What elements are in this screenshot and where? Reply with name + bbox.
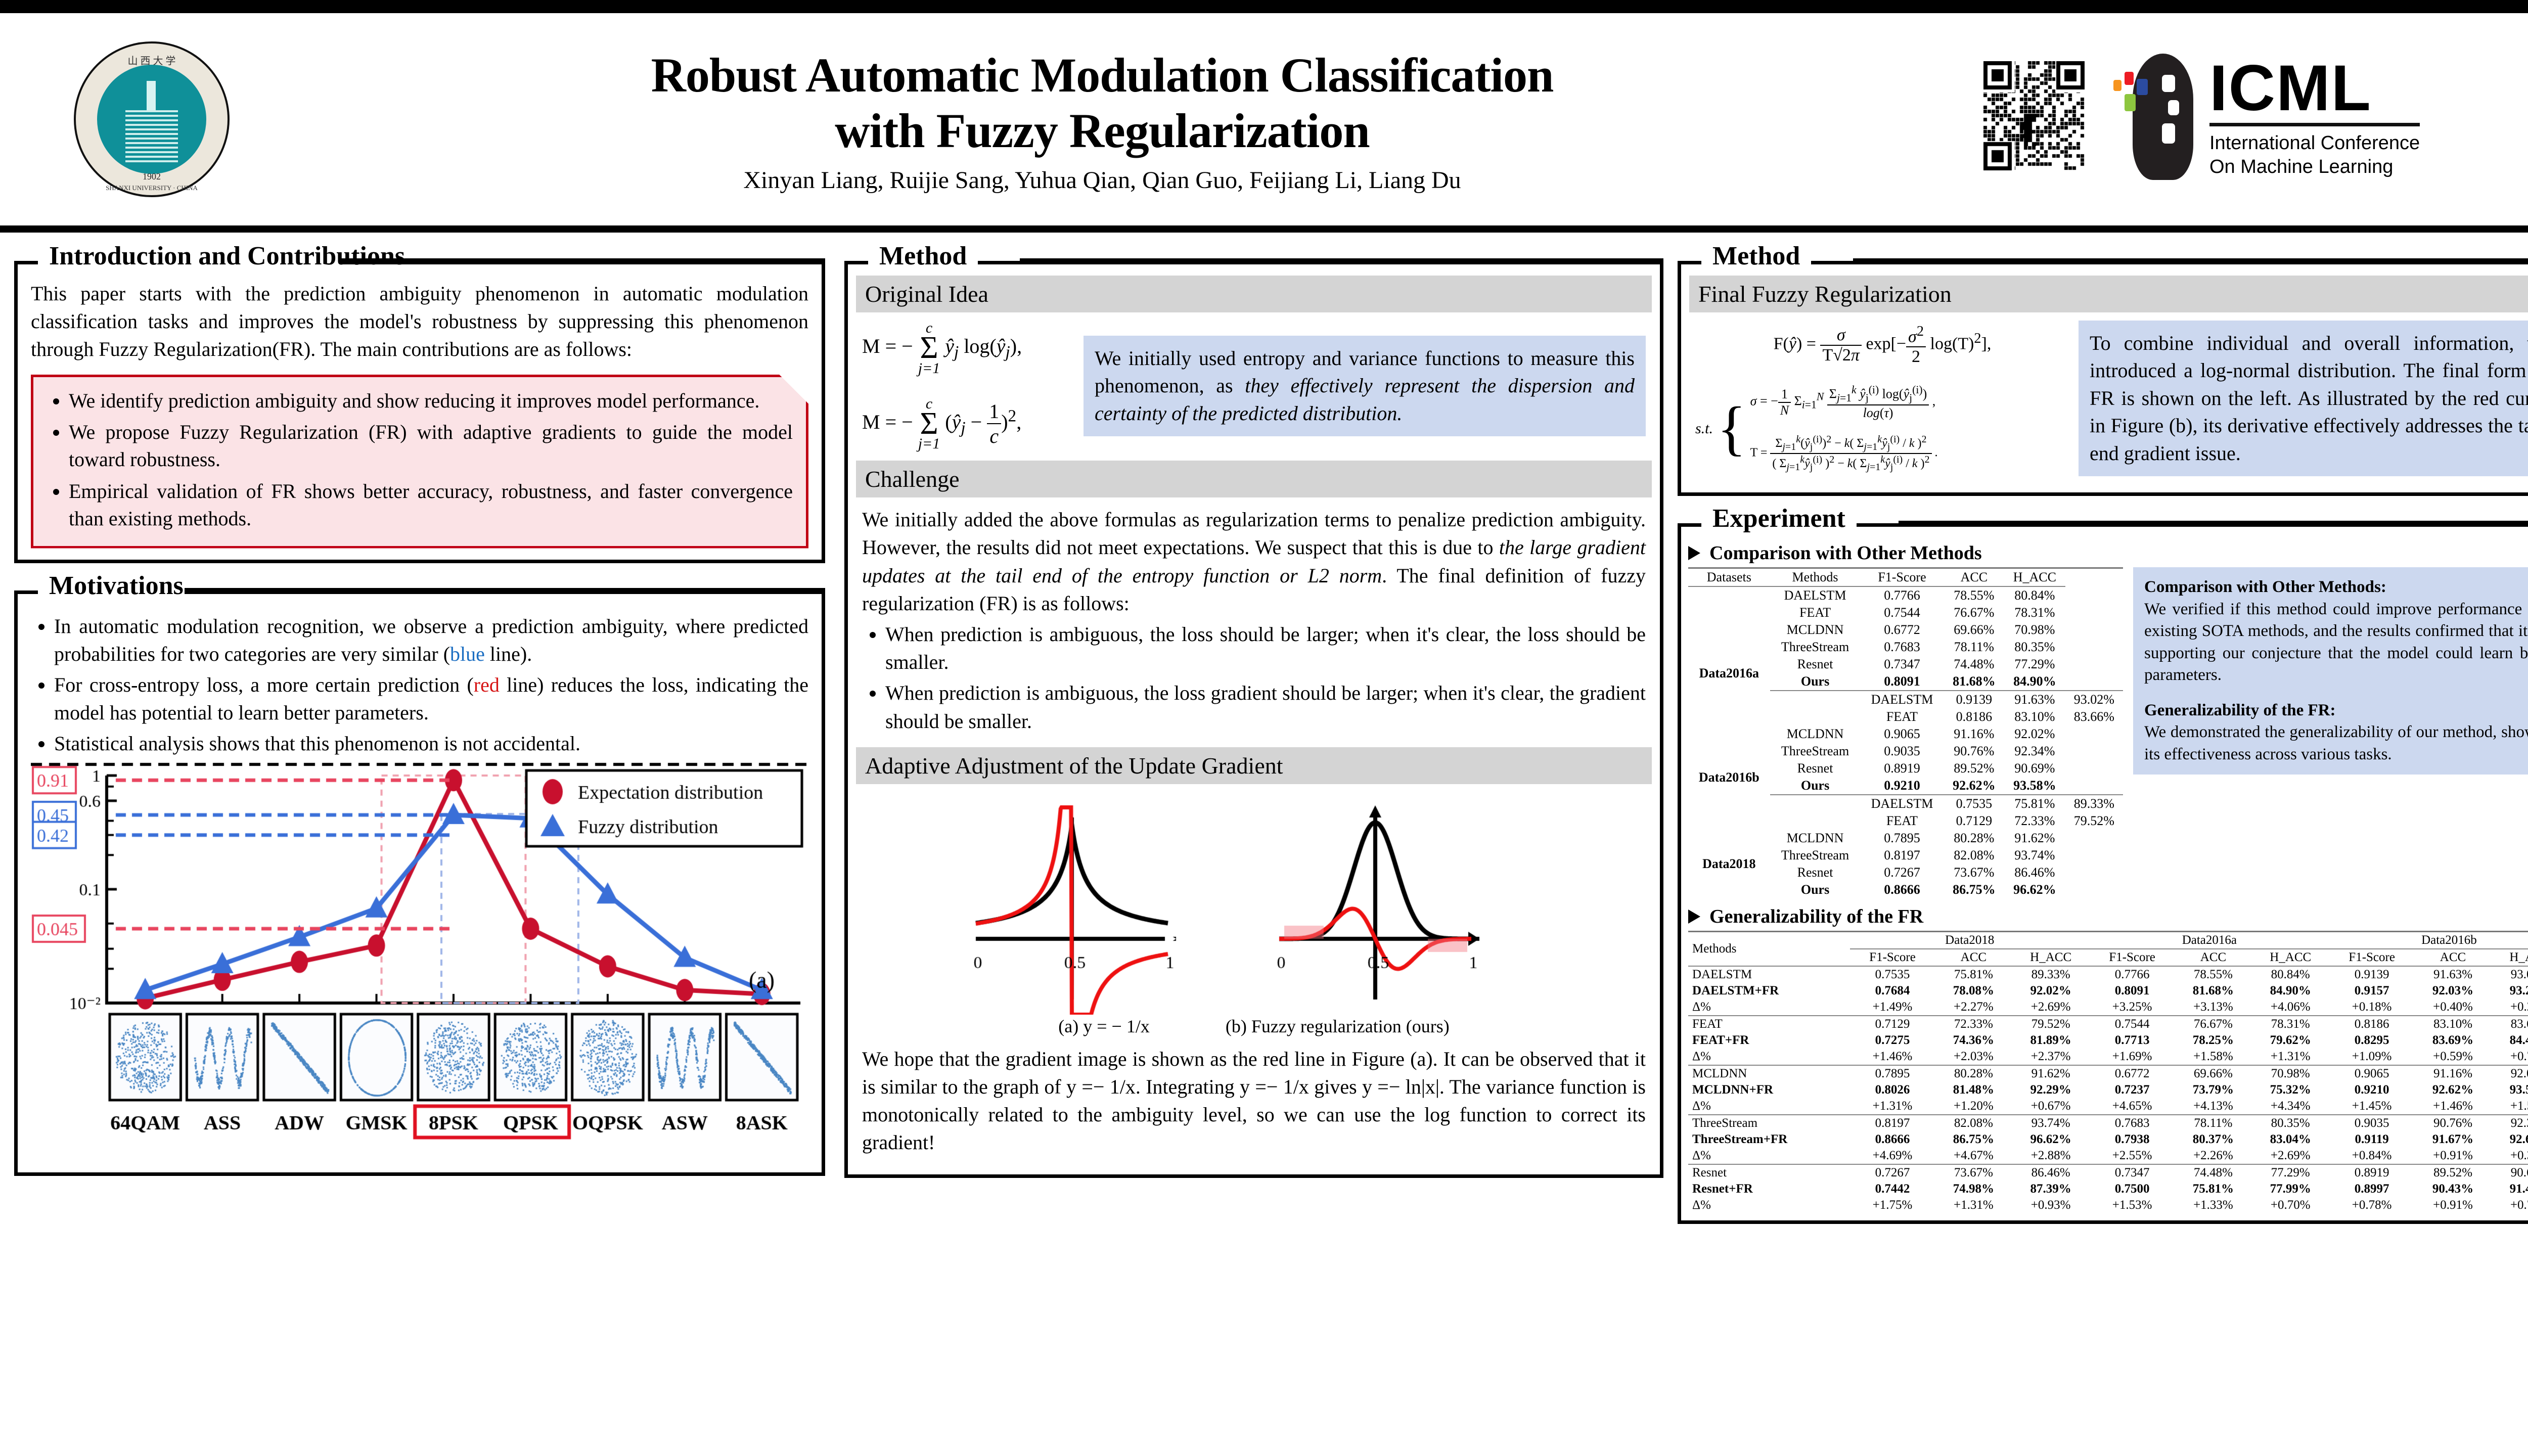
motivation-text-pre: Statistical analysis shows that this phe… bbox=[54, 732, 580, 755]
generalizability-table: MethodsData2018Data2016aData2016bF1-Scor… bbox=[1688, 931, 2528, 1213]
comparison-table: DatasetsMethodsF1-ScoreACCH_ACCDAELSTM0.… bbox=[1688, 567, 2123, 898]
experiment-sub2-label: Generalizability of the FR bbox=[1709, 905, 1923, 928]
experiment-side-note: Comparison with Other Methods: We verifi… bbox=[2133, 567, 2528, 775]
title-rule bbox=[185, 588, 825, 594]
section-title-method-right: Method bbox=[1701, 241, 1811, 271]
intro-paragraph: This paper starts with the prediction am… bbox=[31, 280, 808, 363]
column-left: Introduction and Contributions This pape… bbox=[0, 238, 839, 1456]
subsection-challenge: Challenge bbox=[856, 461, 1652, 497]
poster-columns: Introduction and Contributions This pape… bbox=[0, 238, 2528, 1456]
comparison-row: DatasetsMethodsF1-ScoreACCH_ACCDAELSTM0.… bbox=[1688, 567, 2528, 898]
section-title-method-mid: Method bbox=[868, 241, 978, 271]
motivation-highlight: blue bbox=[450, 643, 485, 665]
formula-T: T = Σj=1k(ŷj(i))2 − k( Σj=1kŷj(i) / k )2… bbox=[1750, 434, 1938, 473]
contribution-item: Empirical validation of FR shows better … bbox=[69, 478, 793, 533]
poster-root: 山 西 大 学 1902 SHANXI UNIVERSITY · CHINA R… bbox=[0, 0, 2528, 1456]
seal-year: 1902 bbox=[143, 171, 161, 182]
formula-variance: M = − cΣj=1 (ŷj − 1c)2, bbox=[862, 396, 1074, 452]
section-title-motivations: Motivations bbox=[38, 571, 195, 601]
seal-chinese-text: 山 西 大 学 bbox=[128, 53, 176, 67]
icml-brain-icon bbox=[2113, 54, 2204, 185]
arrow-bullet-icon bbox=[1688, 909, 1700, 924]
title-block: Robust Automatic Modulation Classificati… bbox=[243, 44, 1962, 194]
figure-b-caption: (b) Fuzzy regularization (ours) bbox=[1226, 1016, 1450, 1037]
original-idea-formulas: M = − cΣj=1 ŷj log(ŷj), M = − cΣj=1 (ŷj … bbox=[862, 321, 1074, 451]
university-logo: 山 西 大 学 1902 SHANXI UNIVERSITY · CHINA bbox=[0, 41, 243, 197]
subsection-final-fuzzy-regularization: Final Fuzzy Regularization bbox=[1689, 276, 2528, 312]
original-idea-body: M = − cΣj=1 ŷj log(ŷj), M = − cΣj=1 (ŷj … bbox=[856, 312, 1652, 461]
side-note-paragraph-2: We demonstrated the generalizability of … bbox=[2144, 721, 2528, 765]
adaptive-closing-text: We hope that the gradient image is shown… bbox=[862, 1045, 1646, 1157]
arrow-bullet-icon bbox=[1688, 546, 1700, 560]
subsection-original-idea: Original Idea bbox=[856, 276, 1652, 312]
experiment-subheading-comparison: Comparison with Other Methods bbox=[1688, 542, 2528, 564]
qr-code-canvas[interactable] bbox=[1983, 61, 2092, 177]
title-rule bbox=[341, 258, 825, 264]
motivation-item: For cross-entropy loss, a more certain p… bbox=[54, 671, 808, 726]
ambiguity-chart bbox=[31, 760, 808, 1167]
adaptive-body: (a) y = − 1/x (b) Fuzzy regularization (… bbox=[856, 784, 1652, 1166]
motivation-text-post: line). bbox=[485, 643, 532, 665]
contribution-item: We identify prediction ambiguity and sho… bbox=[69, 387, 793, 415]
section-method-right: Method Final Fuzzy Regularization F(ŷ) =… bbox=[1678, 261, 2528, 496]
icml-logo: ICML International Conference On Machine… bbox=[2113, 54, 2528, 185]
experiment-subheading-generalizability: Generalizability of the FR bbox=[1688, 905, 2528, 928]
formula-entropy: M = − cΣj=1 ŷj log(ŷj), bbox=[862, 321, 1074, 376]
challenge-paragraph: We initially added the above formulas as… bbox=[862, 506, 1646, 617]
section-experiment: Experiment Comparison with Other Methods… bbox=[1678, 523, 2528, 1224]
qr-code[interactable] bbox=[1962, 61, 2113, 177]
final-fr-note: To combine individual and overall inform… bbox=[2079, 321, 2528, 476]
paper-title-line2: with Fuzzy Regularization bbox=[243, 103, 1962, 158]
experiment-sub1-label: Comparison with Other Methods bbox=[1709, 542, 1982, 564]
section-title-introduction: Introduction and Contributions bbox=[38, 241, 416, 271]
challenge-list: When prediction is ambiguous, the loss s… bbox=[862, 620, 1646, 735]
icml-divider bbox=[2209, 123, 2420, 126]
figure-a-caption: (a) y = − 1/x bbox=[1058, 1016, 1150, 1037]
final-fr-body: F(ŷ) = σT√2π exp[−σ22 log(T)2], s.t. { σ… bbox=[1689, 312, 2528, 485]
motivation-item: Statistical analysis shows that this phe… bbox=[54, 730, 808, 757]
section-introduction: Introduction and Contributions This pape… bbox=[14, 261, 825, 563]
section-motivations: Motivations In automatic modulation reco… bbox=[14, 590, 825, 1176]
side-note-heading-1: Comparison with Other Methods: bbox=[2144, 576, 2528, 599]
section-method-middle: Method Original Idea M = − cΣj=1 ŷj log(… bbox=[844, 261, 1663, 1178]
contributions-box: We identify prediction ambiguity and sho… bbox=[31, 375, 808, 549]
paper-authors: Xinyan Liang, Ruijie Sang, Yuhua Qian, Q… bbox=[243, 166, 1962, 194]
original-idea-note: We initially used entropy and variance f… bbox=[1084, 336, 1646, 436]
formula-F: F(ŷ) = σT√2π exp[−σ22 log(T)2], bbox=[1695, 324, 2069, 367]
formula-st-label: s.t. bbox=[1695, 420, 1713, 437]
motivation-list: In automatic modulation recognition, we … bbox=[31, 612, 808, 758]
side-note-paragraph-1: We verified if this method could improve… bbox=[2144, 599, 2528, 687]
column-right: Method Final Fuzzy Regularization F(ŷ) =… bbox=[1668, 238, 2528, 1456]
icml-wordmark: ICML bbox=[2209, 59, 2420, 117]
formula-constraints: s.t. { σ = −1N Σi=1N Σj=1k ŷj(i) log(ŷj(… bbox=[1695, 384, 2069, 473]
section-title-experiment: Experiment bbox=[1701, 504, 1857, 533]
poster-header: 山 西 大 学 1902 SHANXI UNIVERSITY · CHINA R… bbox=[0, 0, 2528, 233]
motivation-item: In automatic modulation recognition, we … bbox=[54, 612, 808, 668]
shanxi-university-seal-icon: 山 西 大 学 1902 SHANXI UNIVERSITY · CHINA bbox=[74, 41, 230, 197]
contribution-item: We propose Fuzzy Regularization (FR) wit… bbox=[69, 419, 793, 474]
title-rule bbox=[1020, 258, 1663, 264]
icml-subtitle-line1: International Conference bbox=[2209, 131, 2420, 156]
paper-title-line1: Robust Automatic Modulation Classificati… bbox=[243, 48, 1962, 103]
formula-sigma: σ = −1N Σi=1N Σj=1k ŷj(i) log(ŷj(i))log(… bbox=[1750, 384, 1938, 421]
title-rule bbox=[1899, 521, 2528, 527]
motivation-text-pre: In automatic modulation recognition, we … bbox=[54, 615, 808, 665]
ambiguity-chart-canvas bbox=[31, 760, 809, 1165]
challenge-item: When prediction is ambiguous, the loss s… bbox=[885, 620, 1646, 676]
column-middle: Method Original Idea M = − cΣj=1 ŷj log(… bbox=[839, 238, 1668, 1456]
comparison-table-wrap: DatasetsMethodsF1-ScoreACCH_ACCDAELSTM0.… bbox=[1688, 567, 2123, 898]
seal-english-text: SHANXI UNIVERSITY · CHINA bbox=[106, 184, 198, 192]
gradient-figures-canvas bbox=[951, 792, 1557, 1015]
subsection-adaptive-gradient: Adaptive Adjustment of the Update Gradie… bbox=[856, 747, 1652, 784]
motivation-highlight: red bbox=[474, 673, 500, 696]
side-note-heading-2: Generalizability of the FR: bbox=[2144, 700, 2528, 722]
final-fr-formulas: F(ŷ) = σT√2π exp[−σ22 log(T)2], s.t. { σ… bbox=[1695, 321, 2069, 476]
challenge-body: We initially added the above formulas as… bbox=[856, 497, 1652, 747]
title-rule bbox=[1853, 258, 2528, 264]
challenge-item: When prediction is ambiguous, the loss g… bbox=[885, 679, 1646, 735]
icml-subtitle-line2: On Machine Learning bbox=[2209, 155, 2420, 179]
motivation-text-pre: For cross-entropy loss, a more certain p… bbox=[54, 673, 474, 696]
